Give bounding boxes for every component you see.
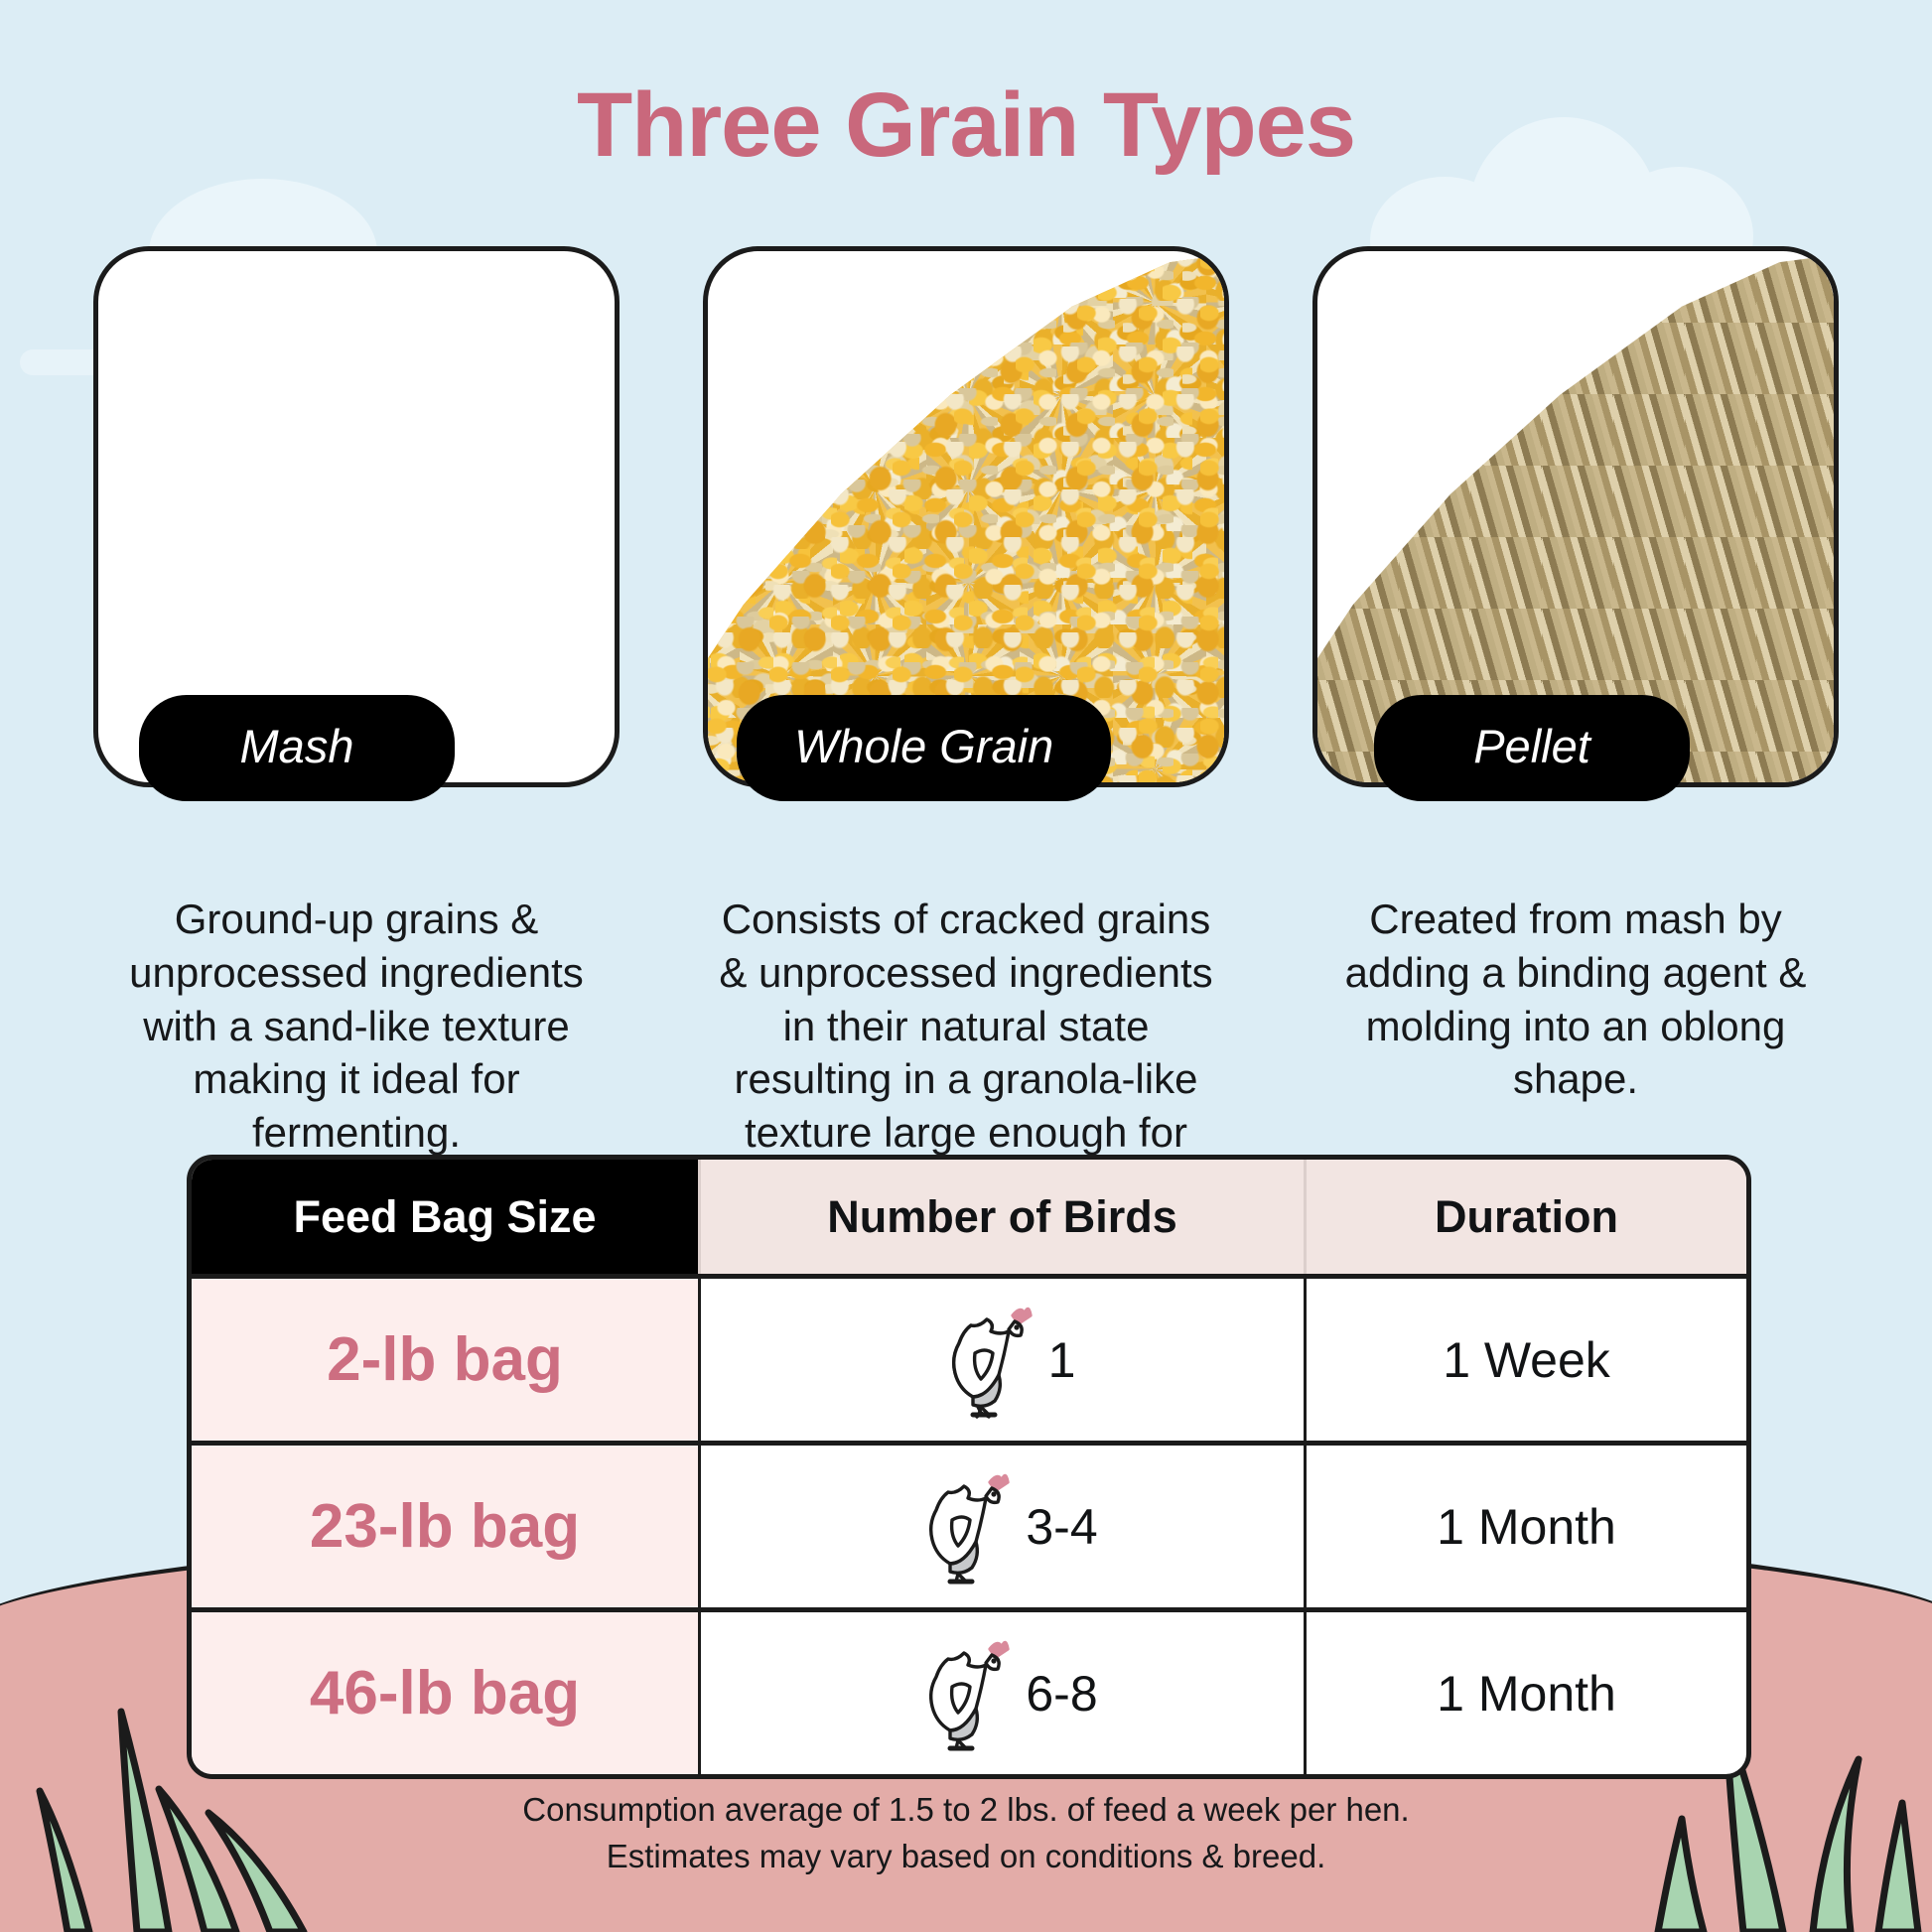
card-description-mash: Ground-up grains & unprocessed ingredien… [93,893,620,1160]
cell-bag-size: 2-lb bag [192,1279,698,1441]
table-row: 46-lb bag [192,1607,1746,1774]
table-row: 2-lb bag [192,1274,1746,1441]
cell-number-of-birds: 1 [698,1279,1304,1441]
cell-number-of-birds: 6-8 [698,1612,1304,1774]
chicken-icon [929,1302,1033,1419]
card-label-mash: Mash [139,695,455,801]
grain-type-card: Pellet Created from mash by adding a bin… [1312,246,1839,1213]
header-feed-bag-size: Feed Bag Size [192,1160,698,1274]
footnote-line-2: Estimates may vary based on conditions &… [0,1834,1932,1880]
infographic-canvas: Three Grain Types Mash Ground-up grains … [0,0,1932,1932]
chicken-icon [906,1468,1010,1586]
footnote: Consumption average of 1.5 to 2 lbs. of … [0,1787,1932,1880]
bird-count: 3-4 [1026,1498,1097,1556]
header-duration: Duration [1304,1160,1746,1274]
card-label-whole-grain: Whole Grain [737,695,1111,801]
footnote-line-1: Consumption average of 1.5 to 2 lbs. of … [0,1787,1932,1834]
bird-count: 1 [1048,1331,1076,1389]
table-row: 23-lb bag [192,1441,1746,1607]
cell-duration: 1 Month [1304,1612,1746,1774]
grain-type-card: Mash Ground-up grains & unprocessed ingr… [93,246,620,1213]
cell-duration: 1 Week [1304,1279,1746,1441]
cell-duration: 1 Month [1304,1446,1746,1607]
cell-number-of-birds: 3-4 [698,1446,1304,1607]
chicken-icon [906,1635,1010,1752]
cell-bag-size: 23-lb bag [192,1446,698,1607]
card-description-pellet: Created from mash by adding a binding ag… [1312,893,1839,1106]
cell-bag-size: 46-lb bag [192,1612,698,1774]
table-header-row: Feed Bag Size Number of Birds Duration [192,1160,1746,1274]
grain-type-card: Whole Grain Consists of cracked grains &… [703,246,1229,1213]
header-number-of-birds: Number of Birds [698,1160,1304,1274]
card-label-pellet: Pellet [1374,695,1690,801]
feed-bag-table: Feed Bag Size Number of Birds Duration 2… [187,1155,1751,1779]
grain-type-card-list: Mash Ground-up grains & unprocessed ingr… [93,246,1839,1213]
bird-count: 6-8 [1026,1665,1097,1723]
page-title: Three Grain Types [0,77,1932,174]
